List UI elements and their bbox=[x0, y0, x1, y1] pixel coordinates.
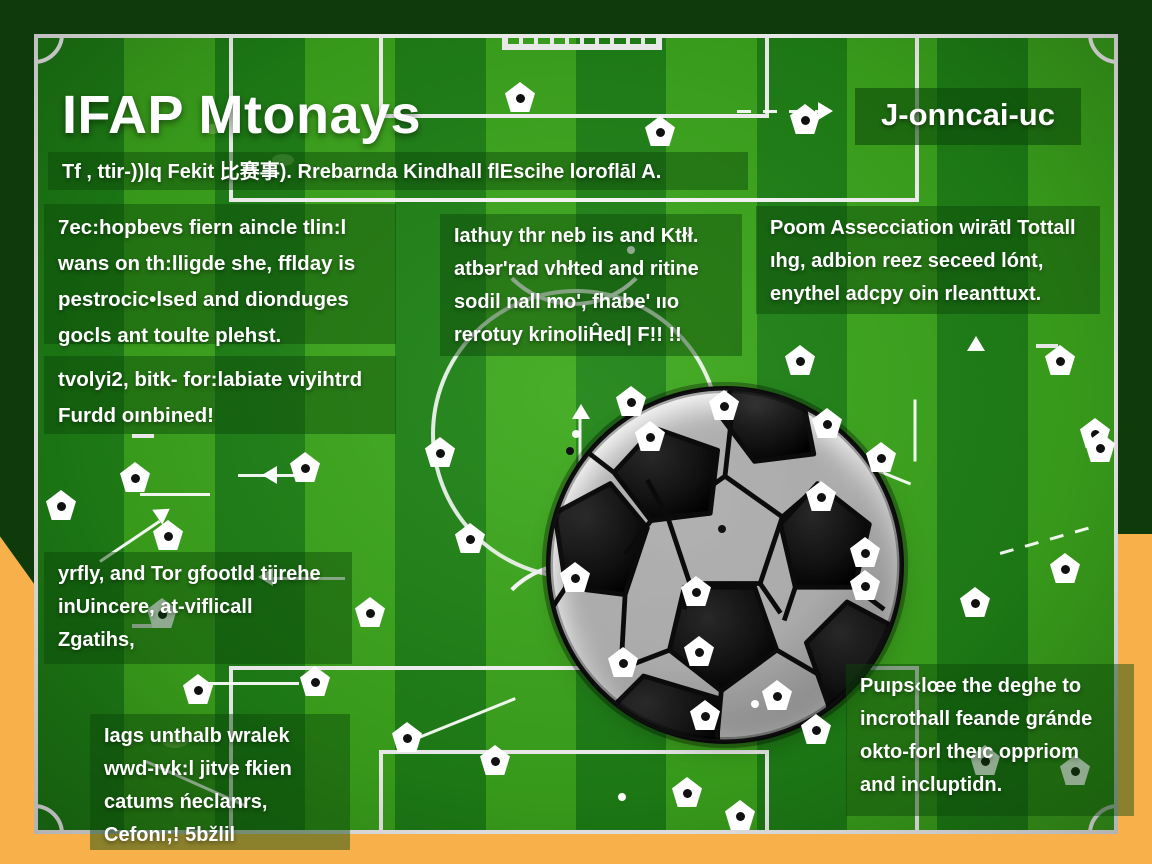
text-panel-left-lower: yrfly, and Tor gfootld tijrehe inUincere… bbox=[44, 552, 352, 664]
text-line: ıhg, adbion reez seceed lónt, bbox=[770, 245, 1086, 278]
ball-spot bbox=[692, 475, 700, 483]
arrow-head-up bbox=[967, 336, 985, 351]
pitch-tick bbox=[1036, 344, 1058, 348]
text-line: okto-forl theıc oppriom bbox=[860, 736, 1120, 769]
arrow-head-right bbox=[818, 102, 833, 120]
text-line: tvolyi2, bitk- for:labiate viyihtrd bbox=[58, 362, 382, 398]
text-line: pestrocic•lsed and dionduges bbox=[58, 282, 382, 318]
corner-arc-bottom-left bbox=[34, 804, 64, 834]
text-line: atbər'rad vhłted and ritine bbox=[454, 253, 728, 286]
football-infographic-poster: IFAP Mtonays Tf , ttir-))lq Fekit 比赛事). … bbox=[0, 0, 1152, 864]
goal-area-bottom bbox=[379, 750, 769, 834]
text-line: rerotuy krinoliĤed| F!! !! bbox=[454, 319, 728, 352]
text-line: wwd-ıvk:l jitve fkien bbox=[104, 753, 336, 786]
text-line: catums ńeclanrs, bbox=[104, 786, 336, 819]
text-line: inUincere, at-viflicall bbox=[58, 591, 338, 624]
text-panel-left-bottom: Iags unthalb wralek wwd-ıvk:l jitve fkie… bbox=[90, 714, 350, 850]
text-line: Puıps‹lœe the deghe to bbox=[860, 670, 1120, 703]
pass-line bbox=[205, 682, 299, 685]
text-line: yrfly, and Tor gfootld tijrehe bbox=[58, 558, 338, 591]
ball-spot bbox=[718, 525, 726, 533]
text-line: sodil nall moʹ, fhabeʹ ııo bbox=[454, 286, 728, 319]
text-line: Furdd oınbined! bbox=[58, 398, 382, 434]
text-panel-right-lower: Puıps‹lœe the deghe to incrothall feande… bbox=[846, 664, 1134, 816]
header-badge: J-onncai-uc bbox=[855, 88, 1081, 145]
text-line: Poom Assecciаtion wirātl Tottall bbox=[770, 212, 1086, 245]
text-line: and incluptidn. bbox=[860, 769, 1120, 802]
text-line: enythel adcpy oin rleanttuxt. bbox=[770, 278, 1086, 311]
goal-net-top bbox=[502, 34, 662, 50]
subtitle-panel: Tf , ttir-))lq Fekit 比赛事). Rrebarnda Kin… bbox=[48, 152, 748, 190]
corner-arc-top-right bbox=[1088, 34, 1118, 64]
text-panel-right-upper: Poom Assecciаtion wirātl Tottall ıhg, ad… bbox=[756, 206, 1100, 314]
text-line: gocls ant toulte plehst. bbox=[58, 318, 382, 354]
pitch-tick bbox=[132, 434, 154, 438]
page-subtitle: Tf , ttir-))lq Fekit 比赛事). Rrebarnda Kin… bbox=[62, 155, 734, 184]
pass-line bbox=[140, 493, 210, 496]
text-line: Iags unthalb wralek bbox=[104, 720, 336, 753]
pass-line bbox=[914, 400, 917, 462]
text-line: Zgatihs, bbox=[58, 624, 338, 657]
text-line: wans on th:lligde she, fflday is bbox=[58, 246, 382, 282]
ball-spot bbox=[751, 700, 759, 708]
text-line: incrothall feande gránde bbox=[860, 703, 1120, 736]
text-line: 7ec:hopbevs fiern aincle tlin:l bbox=[58, 210, 382, 246]
text-line: Cefonı;! 5bžlil bbox=[104, 819, 336, 852]
page-title: IFAP Mtonays bbox=[62, 84, 421, 146]
ball-spot bbox=[618, 793, 626, 801]
arrow-head-left bbox=[262, 466, 277, 484]
text-line: Iathuy thr neb iıs and Ktłł. bbox=[454, 220, 728, 253]
text-panel-left-mid: tvolyi2, bitk- for:labiate viyihtrd Furd… bbox=[44, 356, 396, 434]
corner-arc-top-left bbox=[34, 34, 64, 64]
text-panel-center: Iathuy thr neb iıs and Ktłł. atbər'rad v… bbox=[440, 214, 742, 356]
text-panel-left-upper: 7ec:hopbevs fiern aincle tlin:l wans on … bbox=[44, 204, 396, 344]
